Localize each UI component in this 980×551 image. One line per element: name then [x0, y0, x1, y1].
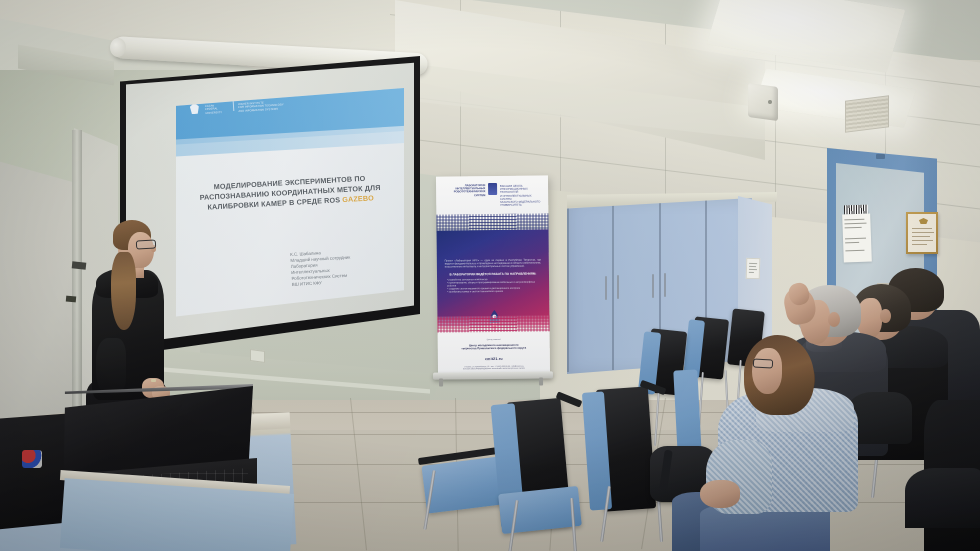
banner-header-right: Высшая школа информационных технологий и… — [500, 184, 543, 207]
banner-header-left: ЛАБОРАТОРИЯ ИНТЕЛЛЕКТУАЛЬНЫХ РОБОТОТЕХНИ… — [451, 184, 486, 197]
monitor-sticker-icon — [22, 450, 42, 468]
chair-seat[interactable] — [498, 486, 582, 534]
attendee-ear — [828, 312, 840, 327]
slide-author-block: К.С. Шабалина Младший научный сотрудник … — [290, 247, 392, 289]
presenter-hair-strand — [111, 252, 136, 330]
slide-title: МОДЕЛИРОВАНИЕ ЭКСПЕРИМЕНТОВ ПО РАСПОЗНАВ… — [182, 172, 398, 214]
attendee-hand — [700, 480, 740, 508]
whiteboard-rail — [72, 130, 82, 430]
banner-base — [433, 371, 553, 379]
slide-title-highlight: GAZEBO — [342, 194, 374, 205]
whiteboard-tray-lower — [66, 296, 76, 303]
door-notice-sheet — [842, 214, 872, 263]
banner-footer-line: Центр молодёжного инновационного творчес… — [444, 343, 543, 351]
slide-logo-text-left: Kazan Federal University — [205, 104, 222, 115]
presenter-sleeve — [96, 338, 126, 394]
whiteboard-tray — [72, 261, 87, 269]
eyeglasses-icon — [753, 358, 773, 368]
eyeglasses-icon — [136, 239, 156, 249]
banner-paragraph: Проект «Лаборатория ИРС» — один из первы… — [445, 258, 541, 268]
attendee-leg — [905, 468, 980, 528]
photo-scene: Kazan Federal University Higher Institut… — [0, 0, 980, 551]
banner-bullet-list: • разработка сенсорных комплексов • прое… — [447, 277, 541, 293]
wall-certificate-frame — [906, 212, 938, 254]
door-latch-icon[interactable] — [876, 154, 885, 159]
speaker-cone — [768, 100, 772, 104]
seal-icon — [919, 218, 928, 224]
attendee-face — [752, 348, 782, 394]
ring-icon — [151, 379, 156, 382]
attendee-ear — [880, 309, 891, 323]
wall-vent-grille — [845, 95, 889, 132]
wall-outlet — [250, 349, 265, 363]
speaker-icon — [748, 83, 778, 121]
banner-subheading: В ЛАБОРАТОРИИ ВЕДЁТСЯ РАБОТА ПО НАПРАВЛЕ… — [445, 272, 541, 277]
rollup-banner: ЛАБОРАТОРИЯ ИНТЕЛЛЕКТУАЛЬНЫХ РОБОТОТЕХНИ… — [436, 175, 550, 376]
cabinet-sign — [746, 258, 761, 279]
projected-slide: Kazan Federal University Higher Institut… — [176, 88, 404, 326]
certificate-paper — [908, 214, 936, 252]
lab-logo-icon — [488, 183, 497, 195]
